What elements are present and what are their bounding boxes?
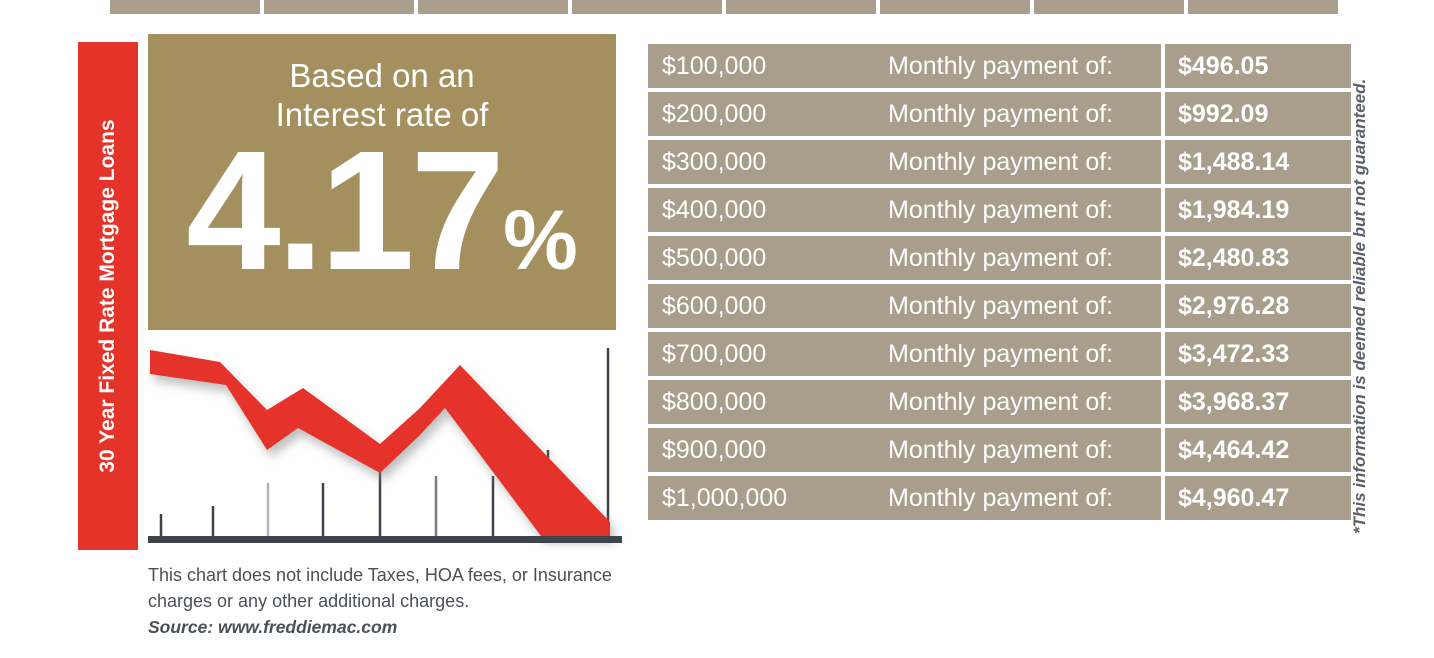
chart-footnote: This chart does not include Taxes, HOA f… xyxy=(148,562,668,640)
table-row-main: $400,000 Monthly payment of: xyxy=(648,188,1161,232)
chart-baseline-axis xyxy=(148,536,622,543)
top-strip-cell xyxy=(880,0,1030,14)
table-row-main: $900,000 Monthly payment of: xyxy=(648,428,1161,472)
interest-rate-box: Based on an Interest rate of 4.17 % xyxy=(148,34,616,330)
payment-value-cell: $992.09 xyxy=(1165,92,1351,136)
table-row-main: $1,000,000 Monthly payment of: xyxy=(648,476,1161,520)
payment-value-cell: $2,976.28 xyxy=(1165,284,1351,328)
top-strip-cell xyxy=(264,0,414,14)
loan-amount-cell: $900,000 xyxy=(648,436,888,465)
table-row: $1,000,000 Monthly payment of: $4,960.47 xyxy=(648,476,1338,520)
infographic-page: 30 Year Fixed Rate Mortgage Loans Based … xyxy=(0,0,1434,658)
top-strip-cell xyxy=(418,0,568,14)
chart-source-line: Source: www.freddiemac.com xyxy=(148,614,668,640)
payment-value-cell: $3,968.37 xyxy=(1165,380,1351,424)
interest-rate-value: 4.17 xyxy=(186,136,501,286)
disclaimer-text: *This information is deemed reliable but… xyxy=(1350,79,1370,534)
payment-label-cell: Monthly payment of: xyxy=(888,340,1113,369)
payment-value-cell: $496.05 xyxy=(1165,44,1351,88)
top-strip-cell xyxy=(1034,0,1184,14)
loan-amount-cell: $400,000 xyxy=(648,196,888,225)
payment-label-cell: Monthly payment of: xyxy=(888,388,1113,417)
payment-label-cell: Monthly payment of: xyxy=(888,196,1113,225)
loan-amount-cell: $500,000 xyxy=(648,244,888,273)
vertical-title-label: 30 Year Fixed Rate Mortgage Loans xyxy=(96,119,120,472)
table-row: $100,000 Monthly payment of: $496.05 xyxy=(648,44,1338,88)
table-row: $500,000 Monthly payment of: $2,480.83 xyxy=(648,236,1338,280)
chart-footnote-line1: This chart does not include Taxes, HOA f… xyxy=(148,562,668,588)
payment-label-cell: Monthly payment of: xyxy=(888,244,1113,273)
table-row: $700,000 Monthly payment of: $3,472.33 xyxy=(648,332,1338,376)
payment-label-cell: Monthly payment of: xyxy=(888,436,1113,465)
table-row-main: $700,000 Monthly payment of: xyxy=(648,332,1161,376)
table-row-main: $100,000 Monthly payment of: xyxy=(648,44,1161,88)
loan-amount-cell: $1,000,000 xyxy=(648,484,888,513)
payment-value-cell: $4,464.42 xyxy=(1165,428,1351,472)
loan-amount-cell: $800,000 xyxy=(648,388,888,417)
payment-label-cell: Monthly payment of: xyxy=(888,292,1113,321)
payment-value-cell: $1,984.19 xyxy=(1165,188,1351,232)
payment-value-cell: $3,472.33 xyxy=(1165,332,1351,376)
table-row-main: $600,000 Monthly payment of: xyxy=(648,284,1161,328)
vertical-title-bar: 30 Year Fixed Rate Mortgage Loans xyxy=(78,42,138,550)
top-strip-cell xyxy=(726,0,876,14)
table-row-main: $300,000 Monthly payment of: xyxy=(648,140,1161,184)
top-cut-off-row xyxy=(110,0,1338,14)
rate-trend-chart xyxy=(148,340,632,550)
payment-label-cell: Monthly payment of: xyxy=(888,148,1113,177)
top-strip-cell xyxy=(572,0,722,14)
table-row-main: $200,000 Monthly payment of: xyxy=(648,92,1161,136)
loan-amount-cell: $200,000 xyxy=(648,100,888,129)
percent-symbol: % xyxy=(503,198,578,282)
disclaimer-block: *This information is deemed reliable but… xyxy=(1340,34,1380,534)
payment-label-cell: Monthly payment of: xyxy=(888,100,1113,129)
top-strip-cell xyxy=(1188,0,1338,14)
table-row: $300,000 Monthly payment of: $1,488.14 xyxy=(648,140,1338,184)
payment-value-cell: $2,480.83 xyxy=(1165,236,1351,280)
monthly-payments-table: $100,000 Monthly payment of: $496.05 $20… xyxy=(648,44,1338,524)
payment-value-cell: $1,488.14 xyxy=(1165,140,1351,184)
top-strip-cell xyxy=(110,0,260,14)
table-row: $900,000 Monthly payment of: $4,464.42 xyxy=(648,428,1338,472)
payment-value-cell: $4,960.47 xyxy=(1165,476,1351,520)
table-row: $600,000 Monthly payment of: $2,976.28 xyxy=(648,284,1338,328)
loan-amount-cell: $600,000 xyxy=(648,292,888,321)
table-row: $400,000 Monthly payment of: $1,984.19 xyxy=(648,188,1338,232)
loan-amount-cell: $100,000 xyxy=(648,52,888,81)
table-row: $200,000 Monthly payment of: $992.09 xyxy=(648,92,1338,136)
table-row-main: $500,000 Monthly payment of: xyxy=(648,236,1161,280)
loan-amount-cell: $300,000 xyxy=(648,148,888,177)
chart-footnote-line2: charges or any other additional charges. xyxy=(148,588,668,614)
payment-label-cell: Monthly payment of: xyxy=(888,484,1113,513)
interest-rate-caption-line1: Based on an xyxy=(148,56,616,95)
interest-rate-value-row: 4.17 % xyxy=(148,136,616,286)
loan-amount-cell: $700,000 xyxy=(648,340,888,369)
table-row: $800,000 Monthly payment of: $3,968.37 xyxy=(648,380,1338,424)
payment-label-cell: Monthly payment of: xyxy=(888,52,1113,81)
table-row-main: $800,000 Monthly payment of: xyxy=(648,380,1161,424)
